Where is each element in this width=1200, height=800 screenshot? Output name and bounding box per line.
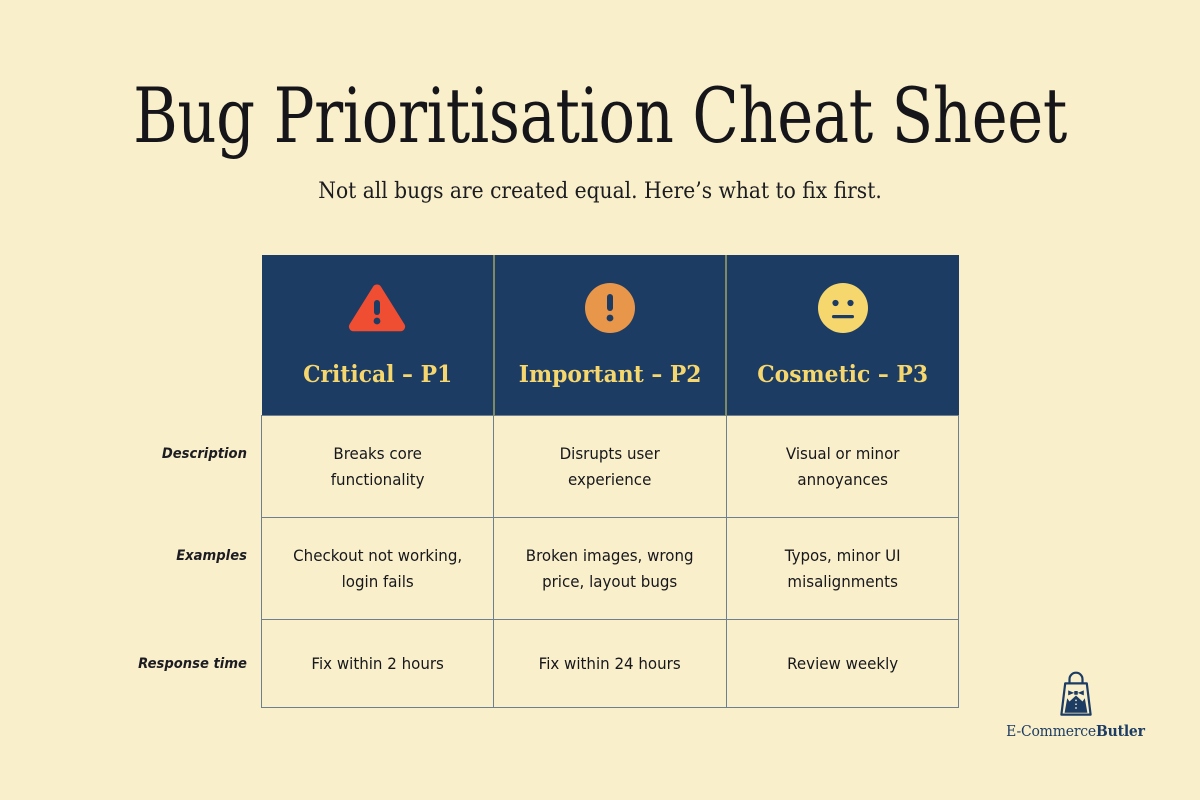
cell-response-important: Fix within 24 hours <box>494 620 726 708</box>
cell-text: Broken images, wrong price, layout bugs <box>518 543 702 595</box>
column-header-critical: Critical – P1 <box>262 255 494 416</box>
warning-triangle-icon <box>272 277 483 339</box>
cell-text: Fix within 2 hours <box>286 651 470 677</box>
logo-word-bold: Butler <box>1096 722 1145 740</box>
table-header-row: Critical – P1 Important – P2 <box>262 255 959 416</box>
logo-wordmark: E-CommerceButler <box>999 722 1152 740</box>
cell-response-cosmetic: Review weekly <box>726 620 958 708</box>
row-label-description: Description <box>74 441 262 467</box>
table-row: Description Breaks core functionality Di… <box>262 416 959 518</box>
neutral-face-icon <box>737 277 948 339</box>
table-header: Critical – P1 Important – P2 <box>262 255 959 416</box>
page-subtitle: Not all bugs are created equal. Here’s w… <box>48 177 1152 207</box>
row-label-response-time: Response time <box>74 651 262 677</box>
column-title-cosmetic: Cosmetic – P3 <box>742 361 943 389</box>
cell-text: Breaks core functionality <box>286 441 470 493</box>
cell-text: Visual or minor annoyances <box>751 441 935 493</box>
page-title: Bug Prioritisation Cheat Sheet <box>120 72 1080 160</box>
cell-text: Review weekly <box>751 651 935 677</box>
column-header-cosmetic: Cosmetic – P3 <box>726 255 958 416</box>
cell-examples-important: Broken images, wrong price, layout bugs <box>494 518 726 620</box>
table-body: Description Breaks core functionality Di… <box>262 416 959 708</box>
bug-priority-table: Critical – P1 Important – P2 <box>261 255 959 708</box>
cheat-sheet-page: { "page": { "title": "Bug Prioritisation… <box>0 0 1200 800</box>
priority-table-wrapper: Critical – P1 Important – P2 <box>261 255 959 708</box>
table-row: Response time Fix within 2 hours Fix wit… <box>262 620 959 708</box>
cell-text: Checkout not working, login fails <box>286 543 470 595</box>
shopping-bag-butler-icon <box>993 670 1158 718</box>
exclamation-circle-icon <box>505 277 715 339</box>
cell-response-critical: Response time Fix within 2 hours <box>262 620 494 708</box>
cell-description-important: Disrupts user experience <box>494 416 726 518</box>
cell-examples-cosmetic: Typos, minor UI misalignments <box>726 518 958 620</box>
cell-description-critical: Description Breaks core functionality <box>262 416 494 518</box>
cell-text: Fix within 24 hours <box>518 651 702 677</box>
row-label-examples: Examples <box>74 543 262 569</box>
logo-word-regular: E-Commerce <box>1006 722 1096 740</box>
cell-text: Disrupts user experience <box>518 441 702 493</box>
brand-logo: E-CommerceButler <box>993 670 1158 740</box>
column-title-important: Important – P2 <box>510 361 710 389</box>
column-title-critical: Critical – P1 <box>277 361 478 389</box>
cell-examples-critical: Examples Checkout not working, login fai… <box>262 518 494 620</box>
cell-text: Typos, minor UI misalignments <box>751 543 935 595</box>
cell-description-cosmetic: Visual or minor annoyances <box>726 416 958 518</box>
table-row: Examples Checkout not working, login fai… <box>262 518 959 620</box>
column-header-important: Important – P2 <box>494 255 726 416</box>
